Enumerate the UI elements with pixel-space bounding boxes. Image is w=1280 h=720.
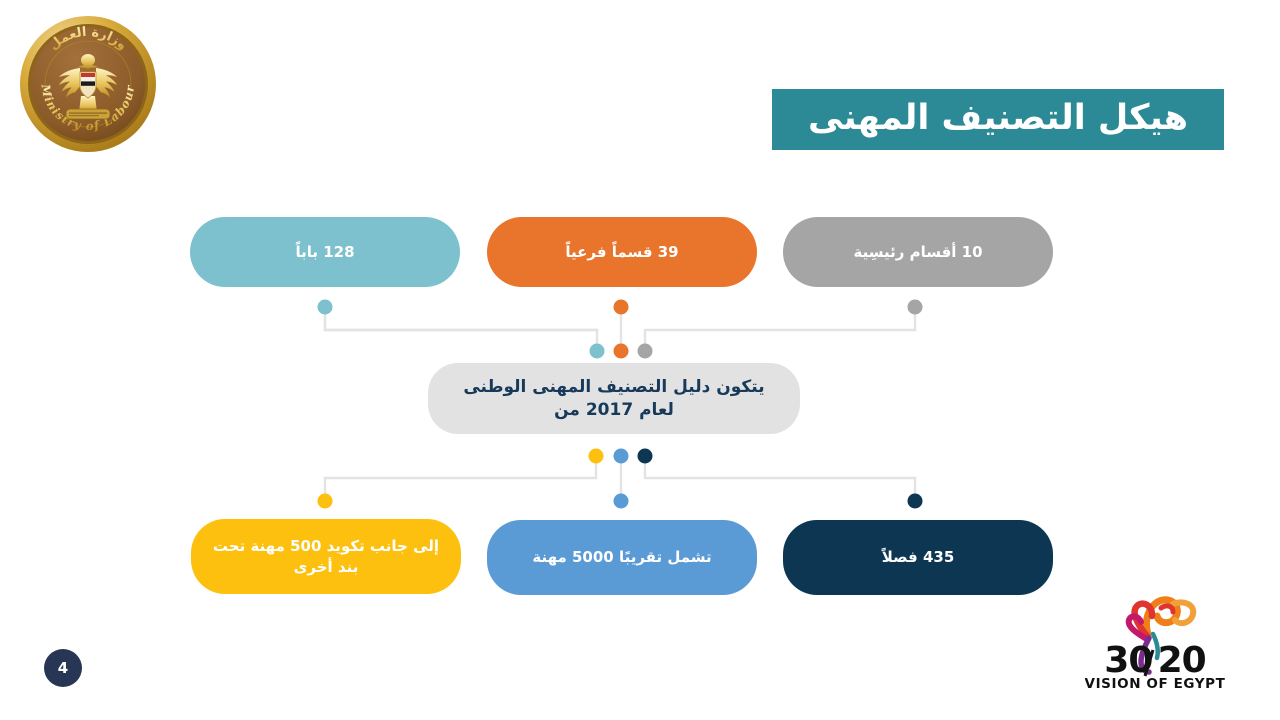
node-128-babs[interactable]: 128 باباً bbox=[190, 217, 460, 287]
center-node-classification-guide[interactable]: يتكون دليل التصنيف المهنى الوطنى لعام 20… bbox=[428, 363, 800, 434]
slide-number-badge: 4 bbox=[44, 649, 82, 687]
connector-dot-orange-hub bbox=[614, 344, 629, 359]
node-500-other-occupations[interactable]: إلى جانب تكويد 500 مهنة تحت بند أخرى bbox=[191, 519, 461, 594]
ministry-seal-icon: وزارة العمل Ministry of Labour bbox=[18, 14, 158, 154]
connector-dot-navy-bottom bbox=[908, 494, 923, 509]
node-10-main-divisions[interactable]: 10 أقسام رئيسِية bbox=[783, 217, 1053, 287]
node-435-chapters[interactable]: 435 فصلاً bbox=[783, 520, 1053, 595]
vision-2030-icon: 20 30 VISION OF EGYPT bbox=[1085, 594, 1225, 694]
node-39-subdivisions[interactable]: 39 قسماً فرعياً bbox=[487, 217, 757, 287]
node-5000-occupations[interactable]: تشمل تقريبًا 5000 مهنة bbox=[487, 520, 757, 595]
connector-dot-navy-hub bbox=[638, 449, 653, 464]
connector-dot-teal-top bbox=[318, 300, 333, 315]
node-label: 435 فصلاً bbox=[882, 547, 955, 567]
connector-dot-blue-bottom bbox=[614, 494, 629, 509]
vision-tagline-text: VISION OF EGYPT bbox=[1085, 676, 1225, 692]
connector-dot-yellow-hub bbox=[589, 449, 604, 464]
vision-of-egypt-2030-logo: 20 30 VISION OF EGYPT bbox=[1085, 594, 1225, 694]
connector-dot-orange-top bbox=[614, 300, 629, 315]
node-label: إلى جانب تكويد 500 مهنة تحت بند أخرى bbox=[209, 536, 443, 577]
connector-dot-yellow-bottom bbox=[318, 494, 333, 509]
connector-dot-grey-top bbox=[908, 300, 923, 315]
node-label: تشمل تقريبًا 5000 مهنة bbox=[532, 547, 711, 567]
node-label: 128 باباً bbox=[295, 242, 354, 262]
connector-dot-teal-hub bbox=[590, 344, 605, 359]
slide-number-text: 4 bbox=[58, 659, 68, 677]
connector-dot-grey-hub bbox=[638, 344, 653, 359]
node-label: 10 أقسام رئيسِية bbox=[853, 242, 982, 262]
slide-canvas: وزارة العمل Ministry of Labour bbox=[0, 0, 1280, 720]
vision-number-text: 20 30 bbox=[1104, 640, 1205, 681]
center-node-label: يتكون دليل التصنيف المهنى الوطنى لعام 20… bbox=[448, 376, 780, 422]
node-label: 39 قسماً فرعياً bbox=[565, 242, 678, 262]
slide-title-bar: هيكل التصنيف المهنى bbox=[772, 89, 1224, 150]
page-title: هيكل التصنيف المهنى bbox=[808, 101, 1188, 136]
connector-dot-blue-hub bbox=[614, 449, 629, 464]
ministry-of-labour-logo: وزارة العمل Ministry of Labour bbox=[18, 14, 158, 154]
seal-scroll-banner bbox=[66, 109, 110, 119]
